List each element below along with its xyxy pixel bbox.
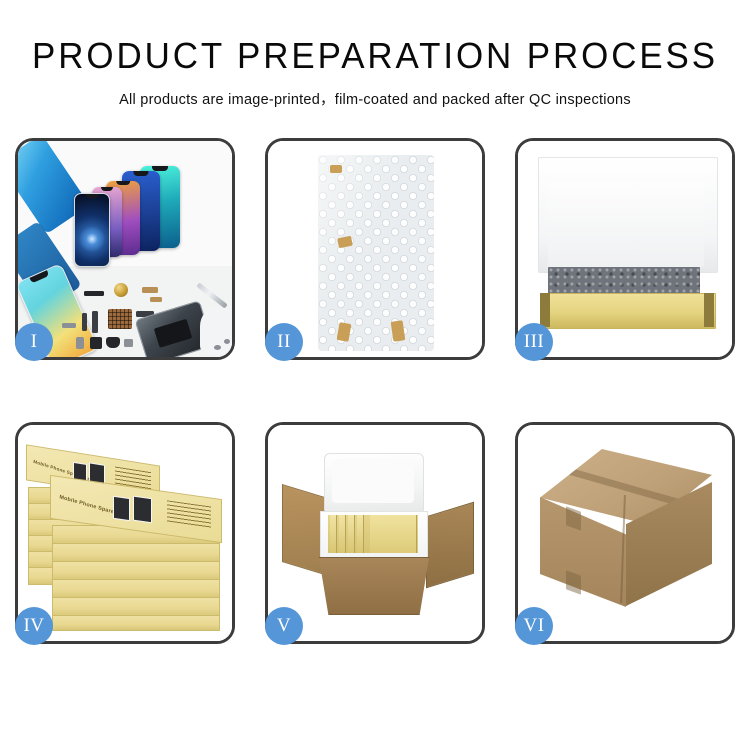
step-badge-6: VI [515, 607, 553, 645]
camera-module-part [90, 337, 102, 349]
page-title: PRODUCT PREPARATION PROCESS [11, 38, 739, 74]
white-foam-inner [548, 183, 704, 267]
flex-cable-part-1 [82, 313, 87, 331]
box-phone-image-f1 [113, 496, 130, 521]
sealed-carton-photo [518, 425, 732, 641]
stacked-box-f-6 [52, 615, 220, 631]
process-step-panel-6[interactable]: VI [515, 422, 735, 644]
sim-tray-part [76, 337, 84, 349]
process-step-grid: I II II [0, 138, 750, 644]
process-step-panel-1[interactable]: I [15, 138, 235, 360]
kraft-box-base [540, 293, 716, 329]
screw-part-2 [224, 339, 230, 344]
kraft-boxes-inside [328, 515, 418, 553]
step-badge-3: III [515, 323, 553, 361]
screw-part-1 [214, 345, 221, 350]
outer-carton-body [314, 557, 434, 615]
page-subtitle: All products are image-printed，film-coat… [0, 88, 750, 109]
kraft-box-right-edge [704, 293, 714, 327]
stacked-box-f-4 [52, 579, 220, 599]
inner-box-foam-photo [518, 141, 732, 357]
antenna-part [62, 323, 76, 328]
kraft-box-left-edge [540, 293, 550, 327]
spare-parts-overview-photo [18, 141, 232, 357]
process-step-panel-2[interactable]: II [265, 138, 485, 360]
step-badge-2: II [265, 323, 303, 361]
speaker-part [106, 337, 120, 348]
boxes-stacked-photo: Mobile Phone Spare Parts Mobile Phone Sp… [18, 425, 232, 641]
stacked-box-f-2 [52, 543, 220, 563]
vibration-motor-part [114, 283, 128, 297]
bubble-wrap-packing-photo [268, 141, 482, 357]
connector-part-2 [142, 287, 158, 293]
screw-tray-part [108, 309, 132, 329]
process-step-panel-4[interactable]: Mobile Phone Spare Parts Mobile Phone Sp… [15, 422, 235, 644]
front-glass-panel [74, 193, 110, 267]
tape-strip-4 [391, 320, 406, 341]
process-step-panel-5[interactable]: V [265, 422, 485, 644]
foam-carton-loading-photo [268, 425, 482, 641]
connector-part-1 [84, 291, 104, 296]
bubble-wrap-bag [318, 155, 434, 351]
carton-flap-right [426, 502, 474, 589]
stacked-box-f-3 [52, 561, 220, 581]
bubble-texture [318, 155, 434, 351]
tape-strip-1 [330, 165, 342, 173]
box-phone-image-f2 [133, 496, 152, 524]
foam-box-lid-inner [332, 459, 414, 503]
stacked-box-f-5 [52, 597, 220, 617]
button-part [124, 339, 133, 347]
step-badge-4: IV [15, 607, 53, 645]
process-step-panel-3[interactable]: III [515, 138, 735, 360]
step-badge-1: I [15, 323, 53, 361]
header: PRODUCT PREPARATION PROCESS All products… [0, 0, 750, 109]
step-badge-5: V [265, 607, 303, 645]
connector-part-3 [150, 297, 162, 302]
flex-cable-part-2 [92, 311, 98, 333]
box-text-block-front [167, 500, 211, 528]
